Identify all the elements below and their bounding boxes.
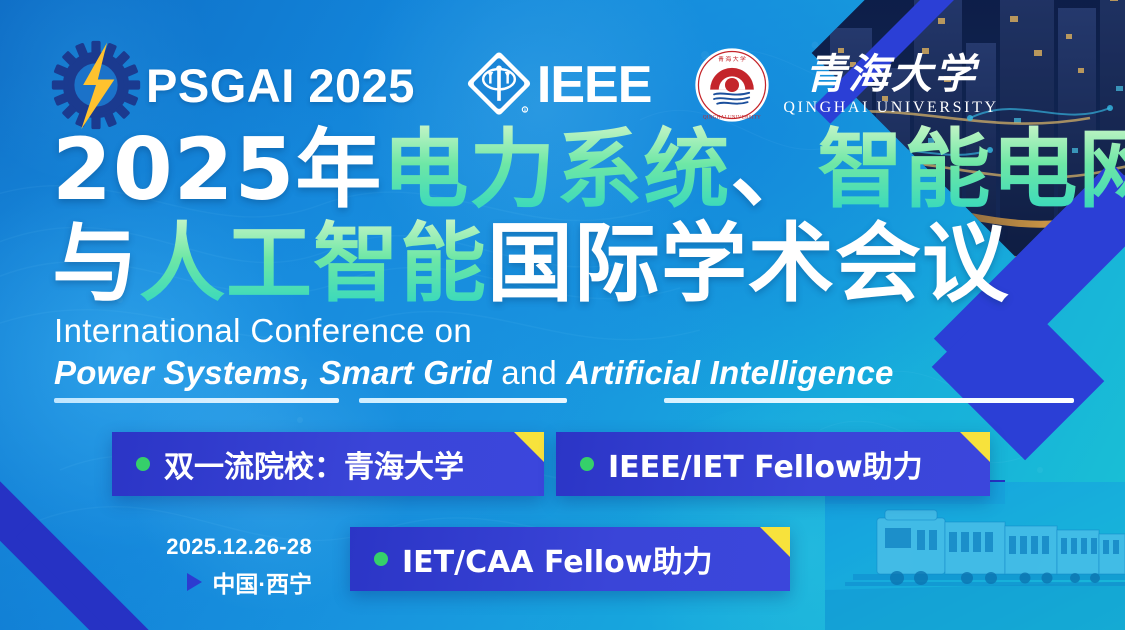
highlight-badge-label: 双一流院校：青海大学: [164, 442, 464, 486]
highlight-badge-university: 双一流院校：青海大学: [112, 432, 544, 496]
logo-row: PSGAI 2025 R IEEE: [50, 38, 999, 132]
badge-corner-icon: [514, 432, 544, 462]
title-seg-ai: 人工智能: [139, 214, 487, 314]
title-seg-conference: 国际学术会议: [487, 214, 1009, 314]
train-photo: [825, 482, 1125, 630]
title-seg-smart-grid: 智能电网: [817, 120, 1125, 220]
conference-logo-text: PSGAI 2025: [146, 58, 415, 113]
subtitle-en: International Conference on Power System…: [54, 312, 1084, 393]
highlight-badge-label: IET/CAA Fellow助力: [402, 537, 713, 581]
underline-power-systems: [54, 398, 339, 403]
university-name-cn: 青海大学: [805, 54, 977, 95]
subtitle-seg-ai: Artificial Intelligence: [566, 354, 893, 391]
title-seg-power-systems: 电力系统: [382, 120, 730, 220]
ieee-logo-text: IEEE: [537, 55, 652, 115]
subtitle-seg-and: and: [492, 354, 566, 391]
highlight-badge-ieee-iet: IEEE/IET Fellow助力: [556, 432, 990, 496]
ieee-logo: R IEEE: [463, 49, 652, 121]
title-seg-comma: 、: [730, 120, 817, 220]
bullet-dot-icon: [580, 457, 594, 471]
gear-lightning-icon: [50, 39, 142, 131]
conference-logo: PSGAI 2025: [50, 39, 415, 131]
subtitle-underlines: [54, 398, 1084, 404]
title-cn-line-2: 与人工智能国际学术会议: [52, 222, 1062, 307]
ieee-diamond-icon: R: [463, 49, 535, 121]
title-cn-line-1: 2025年电力系统、智能电网: [52, 128, 1062, 213]
qinghai-university-seal-icon: 青 海 大 学 QINGHAI UNIVERSITY: [693, 46, 771, 124]
badge-corner-icon: [960, 432, 990, 462]
subtitle-en-line-2: Power Systems, Smart Grid and Artificial…: [54, 353, 1084, 393]
subtitle-en-line-1: International Conference on: [54, 312, 1084, 350]
underline-artificial-intelligence: [664, 398, 1074, 403]
event-location-row: 中国·西宁: [112, 565, 312, 599]
conference-poster: PSGAI 2025 R IEEE: [0, 0, 1125, 630]
university-logo: 青 海 大 学 QINGHAI UNIVERSITY 青海大学 QINGHAI …: [693, 46, 998, 124]
event-date: 2025.12.26-28: [112, 534, 312, 560]
event-info: 2025.12.26-28 中国·西宁: [112, 534, 312, 599]
bullet-dot-icon: [136, 457, 150, 471]
university-name-block: 青海大学 QINGHAI UNIVERSITY: [783, 54, 998, 117]
event-location: 中国·西宁: [212, 565, 312, 599]
highlight-badge-label: IEEE/IET Fellow助力: [608, 442, 923, 486]
page-title: 2025年电力系统、智能电网 与人工智能国际学术会议: [52, 128, 1062, 307]
university-name-en: QINGHAI UNIVERSITY: [783, 99, 998, 117]
bullet-dot-icon: [374, 552, 388, 566]
highlight-badge-iet-caa: IET/CAA Fellow助力: [350, 527, 790, 591]
play-triangle-icon: [187, 573, 202, 591]
underline-smart-grid: [359, 398, 567, 403]
subtitle-seg-power-systems: Power Systems, Smart Grid: [54, 354, 492, 391]
badge-corner-icon: [760, 527, 790, 557]
title-seg-and: 与: [52, 214, 139, 314]
title-seg-year: 2025年: [52, 120, 382, 220]
